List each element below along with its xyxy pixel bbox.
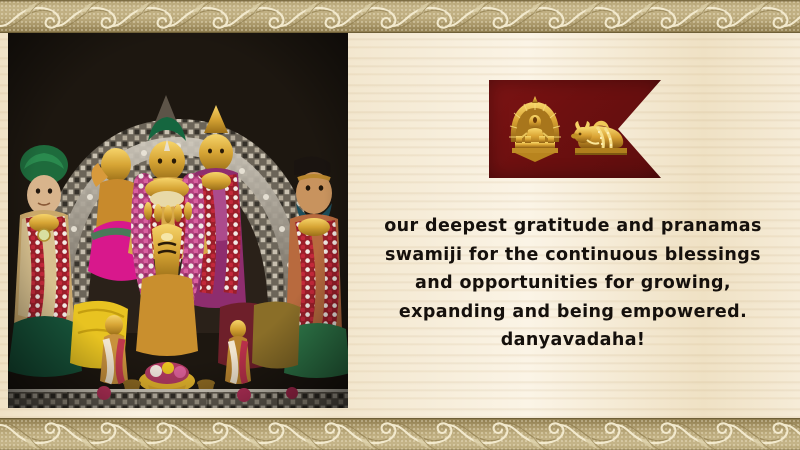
gratitude-message: our deepest gratitude and pranamas swami… xyxy=(355,212,791,355)
message-line-5: danyavadaha! xyxy=(355,326,791,355)
temple-flag-banner xyxy=(489,80,661,178)
message-line-2: swamiji for the continuous blessings xyxy=(355,241,791,270)
deity-photograph xyxy=(8,33,348,408)
nandi-bull-icon xyxy=(567,110,631,160)
deity-throne-icon xyxy=(505,96,565,162)
message-line-1: our deepest gratitude and pranamas xyxy=(355,212,791,241)
border-scroll-pattern-icon xyxy=(0,419,800,450)
gold-scroll-border-bottom xyxy=(0,418,800,450)
greeting-card: our deepest gratitude and pranamas swami… xyxy=(0,0,800,450)
gold-scroll-border-top xyxy=(0,0,800,33)
message-line-4: expanding and being empowered. xyxy=(355,298,791,327)
deity-photograph-image xyxy=(8,33,348,408)
message-line-3: and opportunities for growing, xyxy=(355,269,791,298)
border-scroll-pattern-icon xyxy=(0,0,800,32)
